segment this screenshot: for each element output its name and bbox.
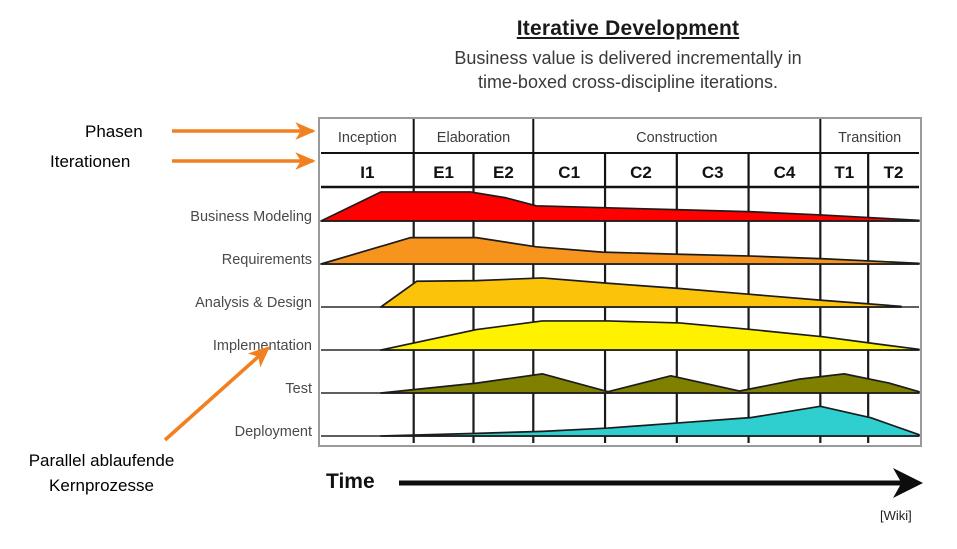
page-subtitle: Business value is delivered incrementall… (318, 46, 938, 94)
annotation-phasen: Phasen (85, 122, 143, 142)
subtitle-line-2: time-boxed cross-discipline iterations. (318, 70, 938, 94)
iteration-label-i1: I1 (360, 163, 374, 182)
chart-plot-area: InceptionElaborationConstructionTransiti… (320, 119, 920, 445)
discipline-label-deployment: Deployment (120, 424, 312, 440)
discipline-label-implementation: Implementation (120, 338, 312, 354)
discipline-label-requirements: Requirements (120, 252, 312, 268)
iteration-label-e2: E2 (493, 163, 514, 182)
annotation-iterationen: Iterationen (50, 152, 130, 172)
title-block: Iterative Development Business value is … (318, 16, 938, 94)
diagram-canvas: Iterative Development Business value is … (0, 0, 957, 549)
iteration-label-t1: T1 (834, 163, 854, 182)
page-title: Iterative Development (318, 16, 938, 42)
source-credit: [Wiki] (880, 508, 912, 523)
area-deployment (381, 406, 919, 436)
area-implementation (381, 321, 919, 350)
phase-label-inception: Inception (338, 130, 397, 146)
iteration-label-c2: C2 (630, 163, 652, 182)
annotation-parallel-kernprozesse: Parallel ablaufende Kernprozesse (4, 448, 199, 498)
time-axis-label: Time (326, 470, 375, 494)
annotation-parallel-line-1: Parallel ablaufende (4, 448, 199, 473)
area-requirements (321, 238, 919, 264)
annotation-parallel-line-2: Kernprozesse (4, 473, 199, 498)
iteration-label-e1: E1 (433, 163, 454, 182)
discipline-label-business-modeling: Business Modeling (120, 209, 312, 225)
phase-label-transition: Transition (838, 130, 901, 146)
iteration-label-c4: C4 (774, 163, 796, 182)
phase-label-elaboration: Elaboration (437, 130, 510, 146)
area-test (381, 374, 919, 393)
area-analysis-design (381, 278, 901, 307)
iteration-label-c3: C3 (702, 163, 724, 182)
iterative-development-chart: InceptionElaborationConstructionTransiti… (318, 117, 922, 447)
discipline-label-test: Test (120, 381, 312, 397)
discipline-label-list: Business ModelingRequirementsAnalysis & … (120, 185, 312, 435)
iteration-label-c1: C1 (558, 163, 580, 182)
area-business-modeling (321, 192, 919, 221)
discipline-label-analysis-design: Analysis & Design (120, 295, 312, 311)
phase-label-construction: Construction (636, 130, 717, 146)
iteration-label-t2: T2 (884, 163, 904, 182)
subtitle-line-1: Business value is delivered incrementall… (318, 46, 938, 70)
